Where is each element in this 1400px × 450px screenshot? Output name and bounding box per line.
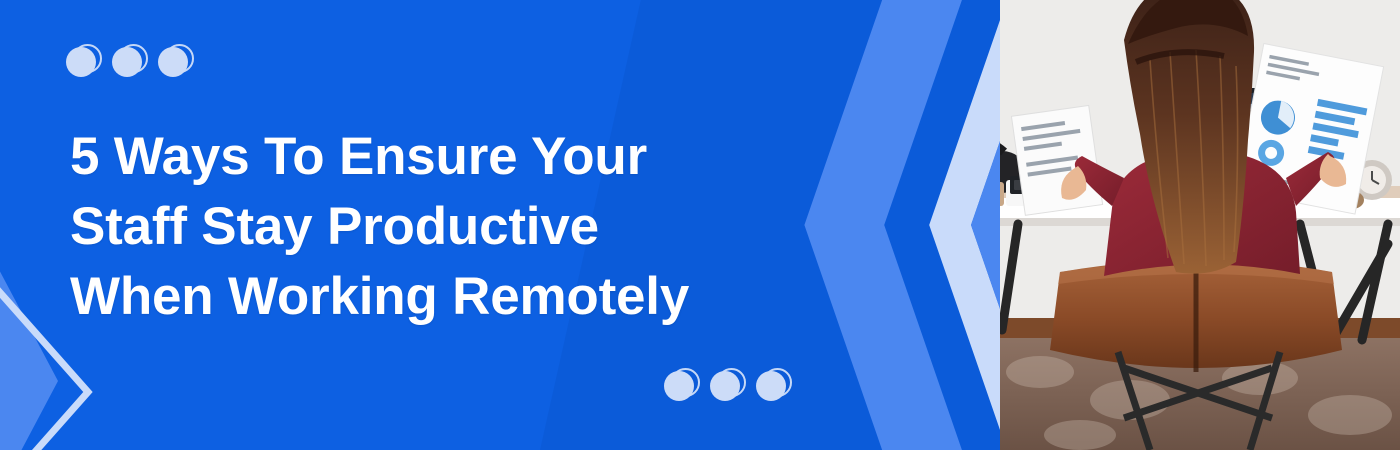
decorative-circle-icon [158, 44, 194, 80]
headline-line-1: 5 Ways To Ensure Your [70, 122, 790, 192]
circle-disc [710, 371, 740, 401]
circle-disc [112, 47, 142, 77]
decorative-circle-icon [66, 44, 102, 80]
headline-line-3: When Working Remotely [70, 262, 790, 332]
hero-photo [1000, 0, 1400, 450]
decorative-circle-icon [756, 368, 792, 404]
dot-cluster-bottom [664, 368, 802, 404]
decorative-circle-icon [664, 368, 700, 404]
headline-line-2: Staff Stay Productive [70, 192, 790, 262]
circle-disc [664, 371, 694, 401]
circle-disc [158, 47, 188, 77]
circle-disc [756, 371, 786, 401]
circle-disc [66, 47, 96, 77]
promo-banner: 5 Ways To Ensure Your Staff Stay Product… [0, 0, 1400, 450]
headline: 5 Ways To Ensure Your Staff Stay Product… [70, 122, 790, 332]
dot-cluster-top [66, 44, 204, 80]
decorative-circle-icon [710, 368, 746, 404]
decorative-circle-icon [112, 44, 148, 80]
blue-background-panel: 5 Ways To Ensure Your Staff Stay Product… [0, 0, 1060, 450]
